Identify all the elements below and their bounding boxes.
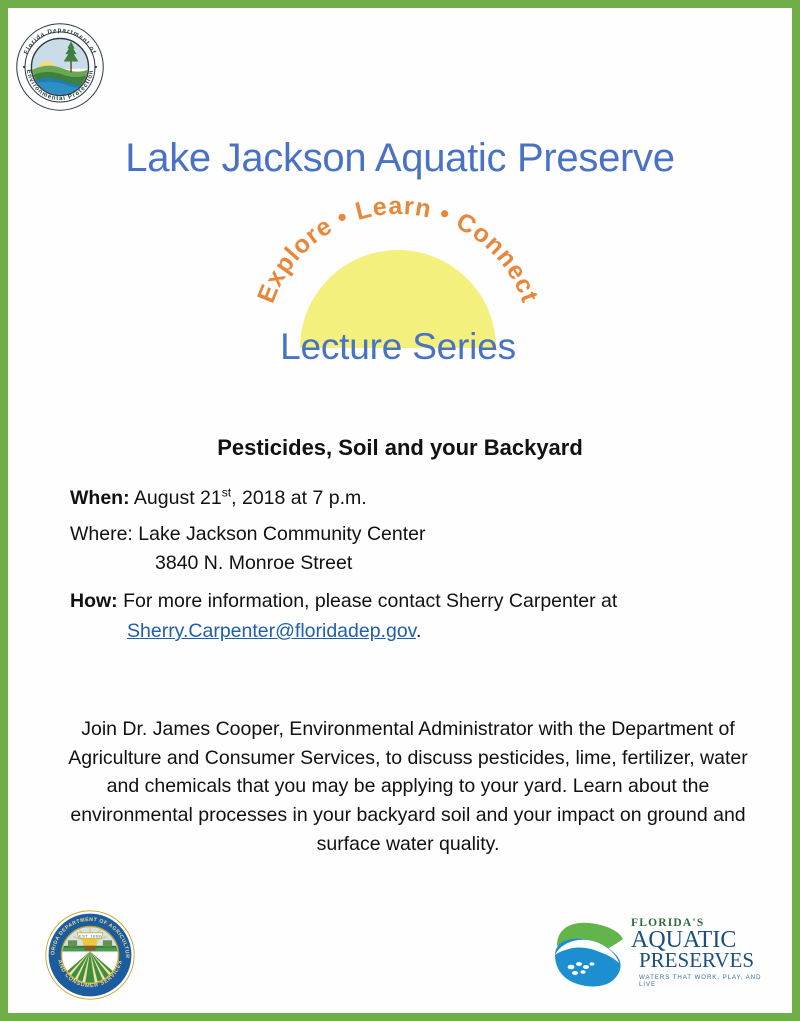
arc-text-label: Explore • Learn • Connect: [252, 192, 544, 307]
fap-line-preserves: PRESERVES: [639, 951, 767, 971]
svg-text:EST. 1868: EST. 1868: [79, 934, 101, 939]
florida-water-mark-icon: [549, 915, 631, 989]
detail-where: Where: Lake Jackson Community Center 384…: [70, 525, 746, 574]
where-address: 3840 N. Monroe Street: [155, 554, 746, 574]
contact-email-link[interactable]: Sherry.Carpenter@floridadep.gov: [127, 620, 416, 642]
where-value: Lake Jackson Community Center: [133, 523, 426, 545]
page-title: Lake Jackson Aquatic Preserve: [8, 136, 792, 181]
lecture-series-label: Lecture Series: [238, 326, 558, 368]
when-value-pre: August 21: [130, 487, 222, 509]
fap-tagline: WATERS THAT WORK, PLAY, AND LIVE: [639, 974, 767, 988]
how-email-line: Sherry.Carpenter@floridadep.gov.: [127, 622, 746, 642]
when-value-post: , 2018 at 7 p.m.: [231, 487, 367, 509]
event-description: Join Dr. James Cooper, Environmental Adm…: [66, 715, 750, 858]
how-email-suffix: .: [416, 620, 421, 642]
flyer-content-area: Florida Department of Environmental Prot…: [8, 8, 792, 1013]
how-value: For more information, please contact She…: [118, 590, 618, 612]
fdacs-seal-icon: EST. 1868 FLORIDA DEPARTMENT OF AGRICULT…: [44, 909, 136, 1001]
aquatic-preserves-logo: FLORIDA'S AQUATIC PRESERVES WATERS THAT …: [549, 913, 767, 991]
event-subtitle: Pesticides, Soil and your Backyard: [8, 435, 792, 461]
aquatic-preserves-wordmark: FLORIDA'S AQUATIC PRESERVES WATERS THAT …: [631, 917, 767, 988]
detail-how: How: For more information, please contac…: [70, 592, 746, 642]
lecture-series-logo: Explore • Learn • Connect Lecture Series: [238, 198, 558, 383]
detail-when: When: August 21st, 2018 at 7 p.m.: [70, 489, 746, 509]
flyer-page: Florida Department of Environmental Prot…: [0, 0, 800, 1021]
event-details: When: August 21st, 2018 at 7 p.m. Where:…: [70, 489, 746, 658]
when-value-ordinal: st: [222, 486, 231, 500]
how-label: How:: [70, 590, 118, 612]
when-label: When:: [70, 487, 130, 509]
where-label: Where:: [70, 523, 133, 545]
dep-seal-icon: Florida Department of Environmental Prot…: [14, 21, 106, 113]
